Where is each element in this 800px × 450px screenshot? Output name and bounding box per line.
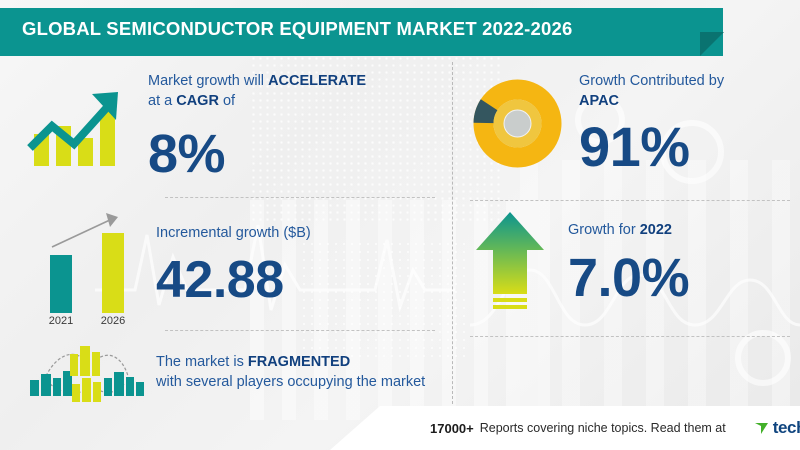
donut-chart-icon [470, 76, 565, 171]
fragmented-caption: The market is FRAGMENTED with several pl… [156, 353, 425, 392]
vertical-divider [452, 62, 453, 414]
cagr-caption-line2-bold: CAGR [176, 93, 219, 109]
fragmented-text-block: The market is FRAGMENTED with several pl… [156, 353, 425, 392]
cagr-caption: Market growth will ACCELERATE at a CAGR … [148, 72, 366, 111]
panel-fragmented: The market is FRAGMENTED with several pl… [18, 338, 438, 408]
technavio-logo[interactable]: technavio® [754, 418, 800, 438]
bar-label-2026: 2026 [101, 315, 125, 325]
cagr-caption-line1-bold: ACCELERATE [268, 73, 366, 89]
apac-caption: Growth Contributed by APAC [579, 72, 724, 111]
incremental-caption: Incremental growth ($B) [156, 224, 311, 244]
divider-left-1 [165, 197, 435, 198]
background-circle-3 [735, 330, 791, 386]
divider-left-2 [165, 330, 435, 331]
bar-label-2021: 2021 [49, 315, 73, 325]
technavio-arrow-icon [754, 420, 770, 436]
cagr-caption-line2-plain-a: at a [148, 93, 176, 109]
growth2022-caption-plain: Growth for [568, 222, 640, 238]
growth2022-caption-bold: 2022 [640, 222, 672, 238]
fragmented-caption-plain-a: The market is [156, 354, 248, 370]
footer-report-count: 17000+ [430, 421, 474, 436]
apac-text-block: Growth Contributed by APAC 91% [579, 72, 724, 175]
cagr-caption-line1-plain: Market growth will [148, 73, 268, 89]
logo-text-tech: tech [773, 418, 800, 438]
growth2022-text-block: Growth for 2022 7.0% [568, 221, 689, 305]
footer-tagline: Reports covering niche topics. Read them… [480, 421, 726, 435]
growth2022-value: 7.0% [568, 251, 689, 305]
panel-incremental-growth: 2021 2026 Incremental growth ($B) 42.88 [18, 205, 438, 325]
city-clusters-network-icon [18, 338, 148, 408]
panel-apac: Growth Contributed by APAC 91% [470, 72, 790, 175]
divider-right-1 [470, 200, 790, 201]
cagr-caption-line2-plain-b: of [219, 93, 235, 109]
page-title: GLOBAL SEMICONDUCTOR EQUIPMENT MARKET 20… [22, 18, 572, 40]
infographic-canvas: GLOBAL SEMICONDUCTOR EQUIPMENT MARKET 20… [0, 0, 800, 450]
fragmented-caption-plain-b: with several players occupying the marke… [156, 374, 425, 390]
incremental-text-block: Incremental growth ($B) 42.88 [156, 224, 311, 306]
two-bars-growth-icon: 2021 2026 [18, 205, 148, 325]
panel-cagr: Market growth will ACCELERATE at a CAGR … [18, 72, 438, 181]
cagr-value: 8% [148, 127, 366, 181]
incremental-value: 42.88 [156, 254, 311, 306]
up-arrow-gradient-icon [470, 208, 550, 318]
fragmented-caption-bold: FRAGMENTED [248, 354, 350, 370]
apac-caption-plain: Growth Contributed by [579, 73, 724, 89]
growth2022-caption: Growth for 2022 [568, 221, 689, 241]
divider-right-2 [470, 336, 790, 337]
growth-bar-chart-arrow-icon [18, 82, 138, 172]
panel-growth-2022: Growth for 2022 7.0% [470, 208, 790, 318]
apac-caption-bold: APAC [579, 93, 619, 109]
footer-content: 17000+ Reports covering niche topics. Re… [430, 418, 800, 438]
apac-value: 91% [579, 119, 724, 175]
cagr-text-block: Market growth will ACCELERATE at a CAGR … [148, 72, 366, 181]
